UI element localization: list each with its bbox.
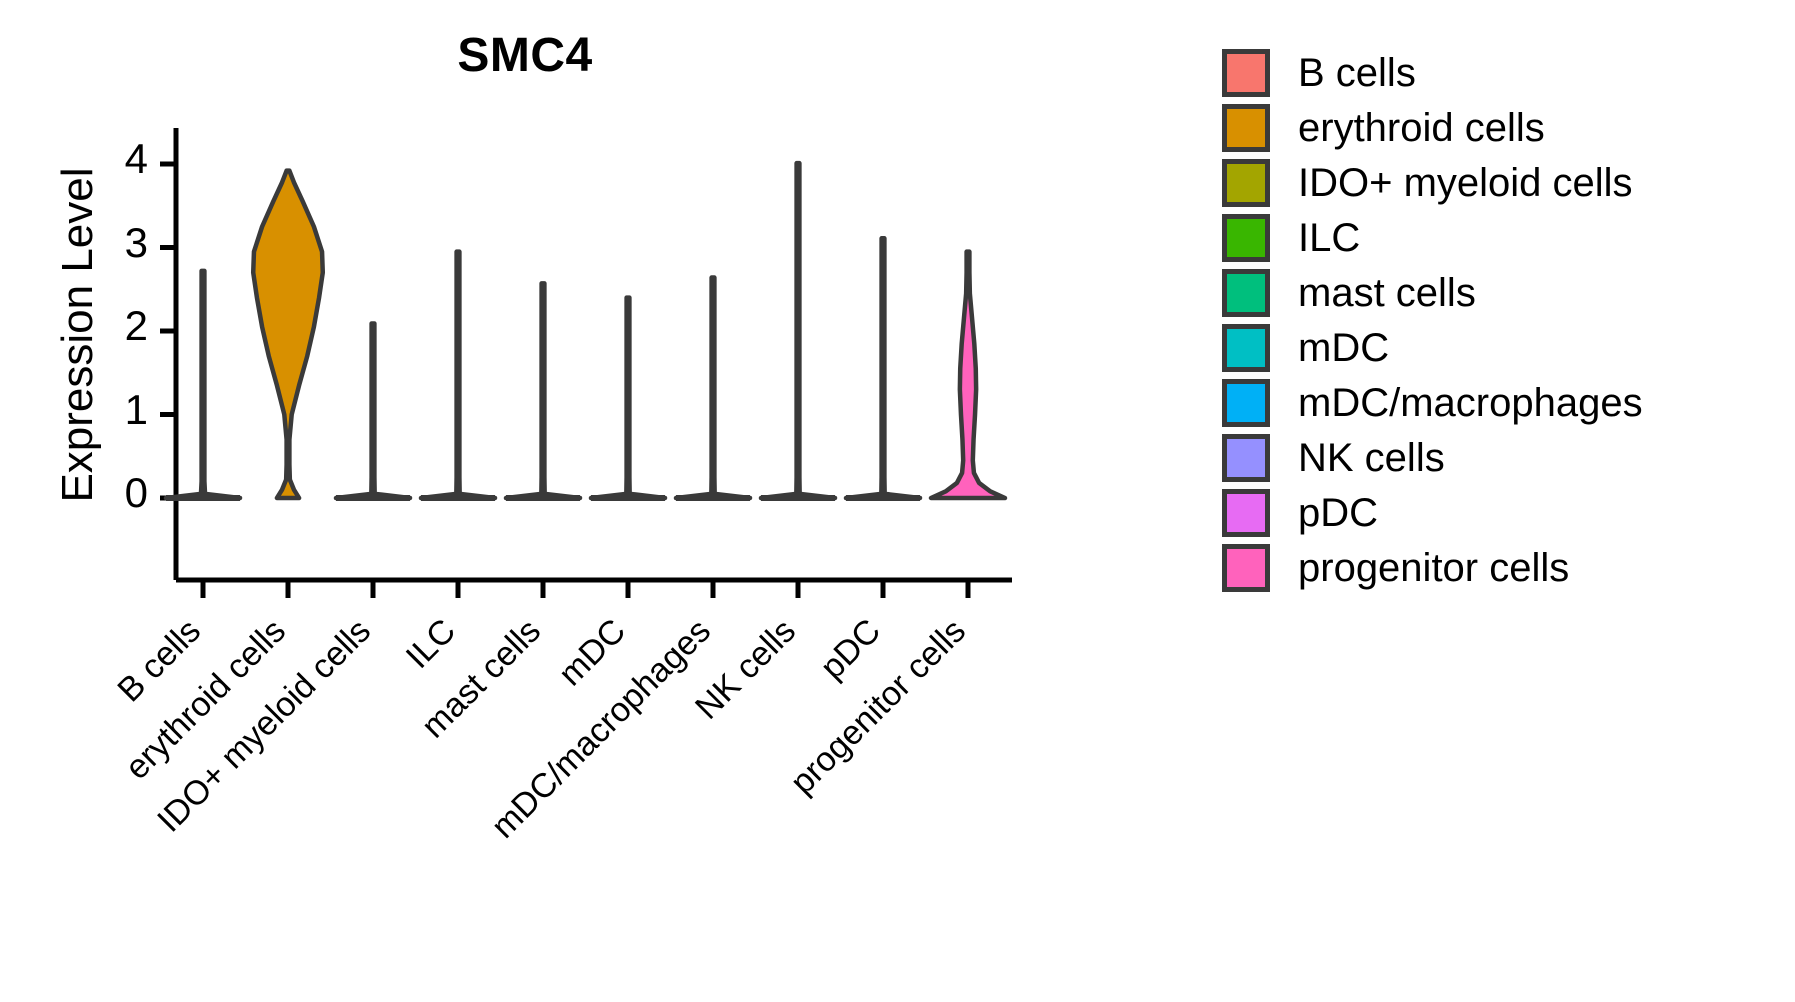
legend: B cellserythroid cellsIDO+ myeloid cells… bbox=[1222, 45, 1643, 595]
legend-item-ilc[interactable]: ILC bbox=[1222, 210, 1643, 265]
legend-color-swatch bbox=[1222, 214, 1270, 262]
legend-color-swatch bbox=[1222, 434, 1270, 482]
legend-item-label: NK cells bbox=[1298, 438, 1445, 478]
legend-item-label: progenitor cells bbox=[1298, 548, 1569, 588]
violin-nk-cells[interactable] bbox=[761, 163, 835, 498]
violin-mdc-macrophages[interactable] bbox=[676, 278, 750, 498]
legend-item-progenitor-cells[interactable]: progenitor cells bbox=[1222, 540, 1643, 595]
legend-color-swatch bbox=[1222, 544, 1270, 592]
legend-item-label: ILC bbox=[1298, 218, 1360, 258]
plot-area bbox=[0, 0, 1100, 620]
legend-item-ido-myeloid-cells[interactable]: IDO+ myeloid cells bbox=[1222, 155, 1643, 210]
violin-body[interactable] bbox=[506, 283, 580, 498]
legend-item-label: mDC/macrophages bbox=[1298, 383, 1643, 423]
x-tick-label: ILC bbox=[399, 612, 464, 677]
legend-item-pdc[interactable]: pDC bbox=[1222, 485, 1643, 540]
legend-item-mast-cells[interactable]: mast cells bbox=[1222, 265, 1643, 320]
violin-body[interactable] bbox=[931, 252, 1005, 498]
legend-item-label: mast cells bbox=[1298, 273, 1476, 313]
violin-erythroid-cells[interactable] bbox=[253, 171, 323, 498]
legend-item-mdc-macrophages[interactable]: mDC/macrophages bbox=[1222, 375, 1643, 430]
legend-item-nk-cells[interactable]: NK cells bbox=[1222, 430, 1643, 485]
legend-color-swatch bbox=[1222, 104, 1270, 152]
violin-mdc[interactable] bbox=[591, 298, 665, 498]
violin-body[interactable] bbox=[761, 163, 835, 498]
legend-item-label: erythroid cells bbox=[1298, 108, 1545, 148]
legend-color-swatch bbox=[1222, 49, 1270, 97]
violin-pdc[interactable] bbox=[846, 238, 920, 498]
legend-item-b-cells[interactable]: B cells bbox=[1222, 45, 1643, 100]
legend-color-swatch bbox=[1222, 269, 1270, 317]
violin-progenitor-cells[interactable] bbox=[931, 252, 1005, 498]
legend-color-swatch bbox=[1222, 159, 1270, 207]
violin-ido-myeloid-cells[interactable] bbox=[336, 323, 410, 498]
violin-mast-cells[interactable] bbox=[506, 283, 580, 498]
legend-item-mdc[interactable]: mDC bbox=[1222, 320, 1643, 375]
violin-body[interactable] bbox=[336, 323, 410, 498]
x-tick-label: pDC bbox=[813, 612, 889, 688]
legend-item-label: pDC bbox=[1298, 493, 1378, 533]
legend-item-erythroid-cells[interactable]: erythroid cells bbox=[1222, 100, 1643, 155]
legend-color-swatch bbox=[1222, 324, 1270, 372]
violin-plot-figure: SMC4 Expression Level 01234 B cellseryth… bbox=[0, 0, 1795, 1002]
legend-item-label: B cells bbox=[1298, 53, 1416, 93]
violin-ilc[interactable] bbox=[421, 252, 495, 498]
violin-body[interactable] bbox=[846, 238, 920, 498]
violin-body[interactable] bbox=[591, 298, 665, 498]
legend-color-swatch bbox=[1222, 489, 1270, 537]
legend-color-swatch bbox=[1222, 379, 1270, 427]
legend-item-label: mDC bbox=[1298, 328, 1389, 368]
violin-body[interactable] bbox=[676, 278, 750, 498]
violin-body[interactable] bbox=[421, 252, 495, 498]
legend-item-label: IDO+ myeloid cells bbox=[1298, 163, 1633, 203]
violin-body[interactable] bbox=[253, 171, 323, 498]
